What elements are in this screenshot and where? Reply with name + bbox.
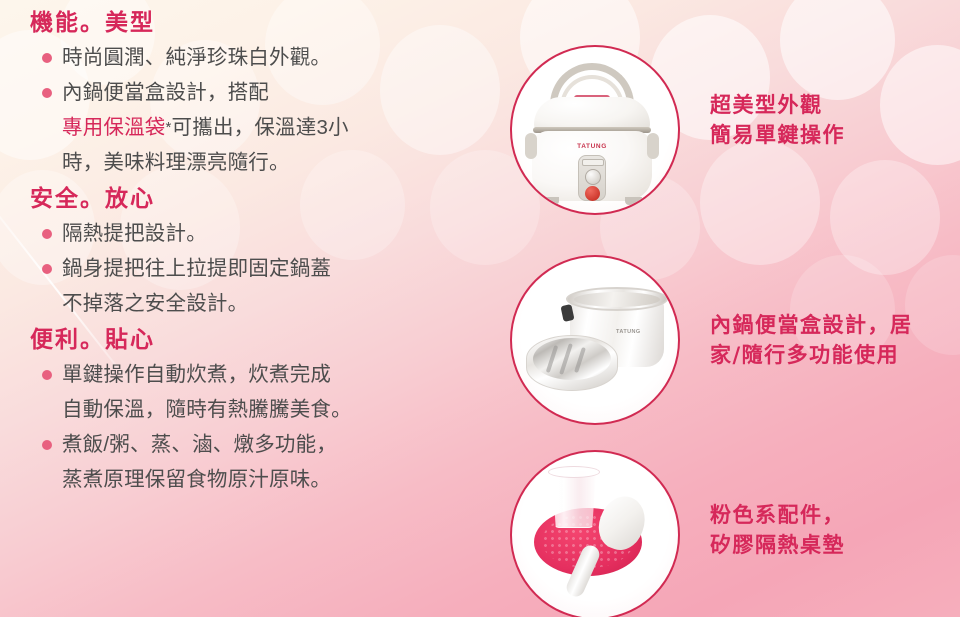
caption-line: 家/隨行多功能使用 bbox=[710, 340, 913, 370]
photo-caption-inner-pot: 內鍋便當盒設計，居 家/隨行多功能使用 bbox=[710, 310, 913, 370]
photo-caption-accessories: 粉色系配件， 矽膠隔熱桌墊 bbox=[710, 500, 845, 560]
list-item: 內鍋便當盒設計，搭配 專用保溫袋*可攜出，保溫達3小 時，美味料理漂亮隨行。 bbox=[30, 75, 500, 180]
cooker-foot-left bbox=[542, 197, 559, 205]
list-item: 單鍵操作自動炊煮，炊煮完成 自動保溫，隨時有熱騰騰美食。 bbox=[30, 357, 500, 427]
cooker-control-panel bbox=[578, 155, 606, 201]
list-item-line: 煮飯/粥、蒸、滷、燉多功能， bbox=[62, 433, 337, 456]
bullet-dot-icon bbox=[42, 88, 52, 98]
panel-indicator-strip bbox=[582, 159, 604, 166]
features-text-column: 機能。美型 時尚圓潤、純淨珍珠白外觀。 內鍋便當盒設計，搭配 專用保溫袋*可攜出… bbox=[0, 0, 500, 617]
list-item-line: 蒸煮原理保留食物原汁原味。 bbox=[62, 462, 500, 497]
caption-line: 矽膠隔熱桌墊 bbox=[710, 530, 845, 560]
list-item-line: 鍋身提把往上拉提即固定鍋蓋 bbox=[62, 257, 331, 280]
inner-pot-illustration: TATUNG bbox=[512, 257, 678, 423]
list-item-line: 不掉落之安全設計。 bbox=[62, 286, 500, 321]
tatung-logo: TATUNG bbox=[562, 143, 622, 150]
list-item: 鍋身提把往上拉提即固定鍋蓋 不掉落之安全設計。 bbox=[30, 251, 500, 321]
product-photo-inner-pot: TATUNG bbox=[510, 255, 680, 425]
bullet-dot-icon bbox=[42, 53, 52, 63]
list-item-line: 自動保溫，隨時有熱騰騰美食。 bbox=[62, 392, 500, 427]
bullet-dot-icon bbox=[42, 370, 52, 380]
list-item-line: 單鍵操作自動炊煮，炊煮完成 bbox=[62, 363, 331, 386]
photo-block-inner-pot: TATUNG 內鍋便當盒設計，居 家/隨行多功能使用 bbox=[510, 255, 960, 425]
bullet-list: 時尚圓潤、純淨珍珠白外觀。 內鍋便當盒設計，搭配 專用保溫袋*可攜出，保溫達3小… bbox=[30, 40, 500, 180]
caption-line: 內鍋便當盒設計，居 bbox=[710, 310, 913, 340]
rice-cooker-illustration: TATUNG bbox=[512, 47, 678, 213]
list-item: 煮飯/粥、蒸、滷、燉多功能， 蒸煮原理保留食物原汁原味。 bbox=[30, 427, 500, 497]
feature-section-design: 機能。美型 時尚圓潤、純淨珍珠白外觀。 內鍋便當盒設計，搭配 專用保溫袋*可攜出… bbox=[30, 6, 500, 180]
photo-block-accessories: 粉色系配件， 矽膠隔熱桌墊 bbox=[510, 450, 960, 617]
bullet-list: 隔熱提把設計。 鍋身提把往上拉提即固定鍋蓋 不掉落之安全設計。 bbox=[30, 216, 500, 321]
list-item-line: 時尚圓潤、純淨珍珠白外觀。 bbox=[62, 46, 331, 69]
list-item-line: 隔熱提把設計。 bbox=[62, 222, 207, 245]
tatung-logo: TATUNG bbox=[616, 329, 641, 335]
cook-button bbox=[585, 186, 600, 201]
section-heading: 安全。放心 bbox=[30, 182, 500, 216]
section-heading: 機能。美型 bbox=[30, 6, 500, 40]
feature-section-convenience: 便利。貼心 單鍵操作自動炊煮，炊煮完成 自動保溫，隨時有熱騰騰美食。 煮飯/粥、… bbox=[30, 323, 500, 497]
cooker-foot-right bbox=[625, 197, 642, 205]
list-item-line: 時，美味料理漂亮隨行。 bbox=[62, 145, 500, 180]
feature-section-safety: 安全。放心 隔熱提把設計。 鍋身提把往上拉提即固定鍋蓋 不掉落之安全設計。 bbox=[30, 182, 500, 321]
caption-line: 簡易單鍵操作 bbox=[710, 120, 845, 150]
photo-block-rice-cooker: TATUNG 超美型外觀 簡易單鍵操作 bbox=[510, 45, 960, 215]
product-photo-accessories bbox=[510, 450, 680, 617]
caption-line: 粉色系配件， bbox=[710, 500, 845, 530]
bullet-dot-icon bbox=[42, 229, 52, 239]
bullet-list: 單鍵操作自動炊煮，炊煮完成 自動保溫，隨時有熱騰騰美食。 煮飯/粥、蒸、滷、燉多… bbox=[30, 357, 500, 497]
cooker-side-ear-left bbox=[525, 133, 537, 159]
measuring-cup bbox=[550, 470, 598, 528]
list-item-line: 可攜出，保溫達3小 bbox=[172, 116, 349, 139]
inner-pot-opening bbox=[574, 292, 660, 307]
list-item-line-wrap: 專用保溫袋*可攜出，保溫達3小 bbox=[62, 110, 500, 145]
list-item: 隔熱提把設計。 bbox=[30, 216, 500, 251]
bullet-dot-icon bbox=[42, 440, 52, 450]
caption-line: 超美型外觀 bbox=[710, 90, 845, 120]
bullet-dot-icon bbox=[42, 264, 52, 274]
product-feature-infographic: 機能。美型 時尚圓潤、純淨珍珠白外觀。 內鍋便當盒設計，搭配 專用保溫袋*可攜出… bbox=[0, 0, 960, 617]
photo-caption-rice-cooker: 超美型外觀 簡易單鍵操作 bbox=[710, 90, 845, 150]
list-item: 時尚圓潤、純淨珍珠白外觀。 bbox=[30, 40, 500, 75]
keep-warm-button bbox=[585, 169, 601, 185]
cooker-lid bbox=[534, 97, 650, 131]
list-item-line: 內鍋便當盒設計，搭配 bbox=[62, 81, 269, 104]
cooker-side-ear-right bbox=[647, 133, 659, 159]
product-photo-rice-cooker: TATUNG bbox=[510, 45, 680, 215]
highlight-text: 專用保溫袋 bbox=[62, 116, 166, 139]
measuring-cup-rim bbox=[548, 466, 600, 478]
section-heading: 便利。貼心 bbox=[30, 323, 500, 357]
accessories-illustration bbox=[512, 452, 678, 617]
